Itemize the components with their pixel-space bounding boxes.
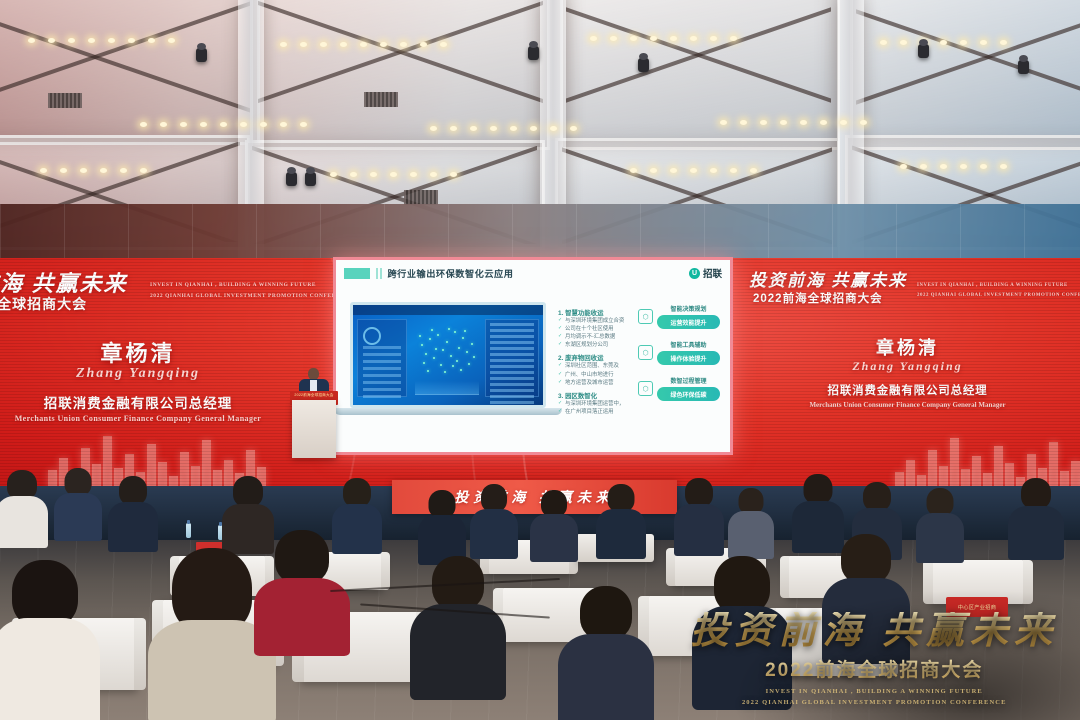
audience-member (558, 586, 654, 720)
badge-pill: 运营效能提升 (657, 315, 720, 329)
brand-script-right: 投资前海 共赢未来 (749, 266, 907, 291)
ceiling-vent (364, 92, 398, 107)
speaker-name-en-right: Zhang Yangqing (735, 359, 1080, 374)
bullet-list: 1. 智慧功能收运 与深圳环境集团成立合资 公司在十个社区使用 月均调示不-汇总… (558, 304, 646, 416)
upper-wall (0, 204, 1080, 262)
audience-member (674, 478, 724, 552)
podium-plate-line-1: 2022前海全球招商大会 (290, 391, 338, 398)
audience-member (0, 560, 100, 720)
led-panel-right: 投资前海 共赢未来 2022前海全球招商大会 INVEST IN QIANHAI… (735, 258, 1080, 488)
badge-item: ⬡ 智能工具辅助 操作体验提升 (638, 340, 720, 365)
speaker-org-cn-left: 招联消费金融有限公司总经理 (0, 392, 338, 412)
english-line-2-left: 2022 QIANHAI GLOBAL INVESTMENT PROMOTION… (150, 293, 338, 299)
zhaolian-logo: U 招联 (689, 266, 722, 280)
zhaolian-name: 招联 (703, 266, 722, 280)
speaker-org-en-right: Merchants Union Consumer Finance Company… (735, 401, 1080, 409)
badge-caption: 智能决策规划 (657, 304, 720, 313)
bullet-group: 3. 园区数智化 与深圳环境集团运营中， 在广州项目落正运用 (558, 391, 646, 416)
english-line-1-left: INVEST IN QIANHAI , BUILDING A WINNING F… (150, 282, 316, 288)
audience-member (54, 468, 102, 540)
water-bottle (186, 523, 191, 538)
laptop-illustration (350, 302, 546, 415)
audience-member (530, 490, 578, 560)
badge-caption: 数智过程管理 (657, 376, 720, 385)
ceiling-vent (48, 93, 82, 108)
conference-photo: 投资前海 共赢未来 2022前海全球招商大会 INVEST IN QIANHAI… (0, 0, 1080, 720)
watermark-subtitle: 2022前海全球招商大会 (690, 655, 1058, 682)
ceiling-spotlight-icon (918, 44, 929, 58)
accent-bars-icon (376, 268, 382, 279)
hex-tool-icon: ⬡ (638, 345, 653, 360)
slide-title: 跨行业输出环保数智化云应用 (388, 266, 514, 280)
speaker-name-cn-left: 章杨清 (0, 336, 338, 368)
brand-subtitle-right: 2022前海全球招商大会 (753, 290, 883, 306)
speaker-org-cn-right: 招联消费金融有限公司总经理 (735, 382, 1080, 398)
accent-block-icon (344, 268, 370, 279)
ceiling-spotlight-icon (638, 58, 649, 72)
english-line-2-right: 2022 QIANHAI GLOBAL INVESTMENT PROMOTION… (917, 293, 1080, 298)
audience-member (0, 470, 48, 546)
ceiling-spotlight-icon (305, 172, 316, 186)
ceiling-spotlight-icon (528, 46, 539, 60)
badge-caption: 智能工具辅助 (657, 340, 720, 349)
slide-header: 跨行业输出环保数智化云应用 U 招联 (336, 260, 730, 286)
ceiling (0, 0, 1080, 262)
ceiling-spotlight-icon (286, 172, 297, 186)
ceiling-vent (404, 190, 438, 205)
led-panel-left: 投资前海 共赢未来 2022前海全球招商大会 INVEST IN QIANHAI… (0, 258, 338, 488)
audience-member (410, 556, 506, 696)
hex-decision-icon: ⬡ (638, 309, 653, 324)
watermark-english-1: INVEST IN QIANHAI , BUILDING A WINNING F… (690, 686, 1058, 697)
speaker-org-en-left: Merchants Union Consumer Finance Company… (0, 414, 338, 423)
laptop-base (334, 408, 562, 415)
gauge-icon (363, 327, 381, 345)
ceiling-spotlight-icon (1018, 60, 1029, 74)
badge-column: ⬡ 智能决策规划 运营效能提升 ⬡ 智能工具辅助 操作体验提升 ⬡ 数智过程管理… (638, 304, 720, 412)
audience-member (470, 484, 518, 556)
english-line-1-right: INVEST IN QIANHAI , BUILDING A WINNING F… (917, 283, 1068, 288)
map-visualization (413, 321, 481, 379)
badge-pill: 绿色环保低碳 (657, 387, 720, 401)
bullet-group: 2. 废弃物回收运 深圳社区范围、东莞及 广州、中山市地进行 地方运营及城市运营 (558, 353, 646, 386)
watermark-english-2: 2022 QIANHAI GLOBAL INVESTMENT PROMOTION… (690, 697, 1058, 708)
dashboard-screenshot (350, 302, 546, 408)
audience-member (1008, 478, 1064, 556)
podium (292, 400, 336, 458)
badge-item: ⬡ 数智过程管理 绿色环保低碳 (638, 376, 720, 401)
badge-item: ⬡ 智能决策规划 运营效能提升 (638, 304, 720, 329)
speaker-name-cn-right: 章杨清 (735, 334, 1080, 360)
audience-member (728, 488, 774, 556)
audience-member (108, 476, 158, 550)
event-watermark: 投资前海 共赢未来 2022前海全球招商大会 INVEST IN QIANHAI… (690, 612, 1058, 708)
ceiling-spotlight-icon (196, 48, 207, 62)
audience-member (418, 490, 466, 562)
audience-member (916, 488, 964, 560)
audience-member (596, 484, 646, 556)
speaker-name-en-left: Zhang Yangqing (0, 366, 338, 382)
hex-process-icon: ⬡ (638, 381, 653, 396)
bullet-group: 1. 智慧功能收运 与深圳环境集团成立合资 公司在十个社区使用 月均调示不-汇总… (558, 308, 646, 349)
presentation-slide: 跨行业输出环保数智化云应用 U 招联 (333, 257, 733, 455)
watermark-script: 投资前海 共赢未来 (690, 612, 1058, 650)
brand-subtitle-left: 2022前海全球招商大会 (0, 294, 87, 314)
badge-pill: 操作体验提升 (657, 351, 720, 365)
zhaolian-mark-icon: U (689, 268, 700, 279)
